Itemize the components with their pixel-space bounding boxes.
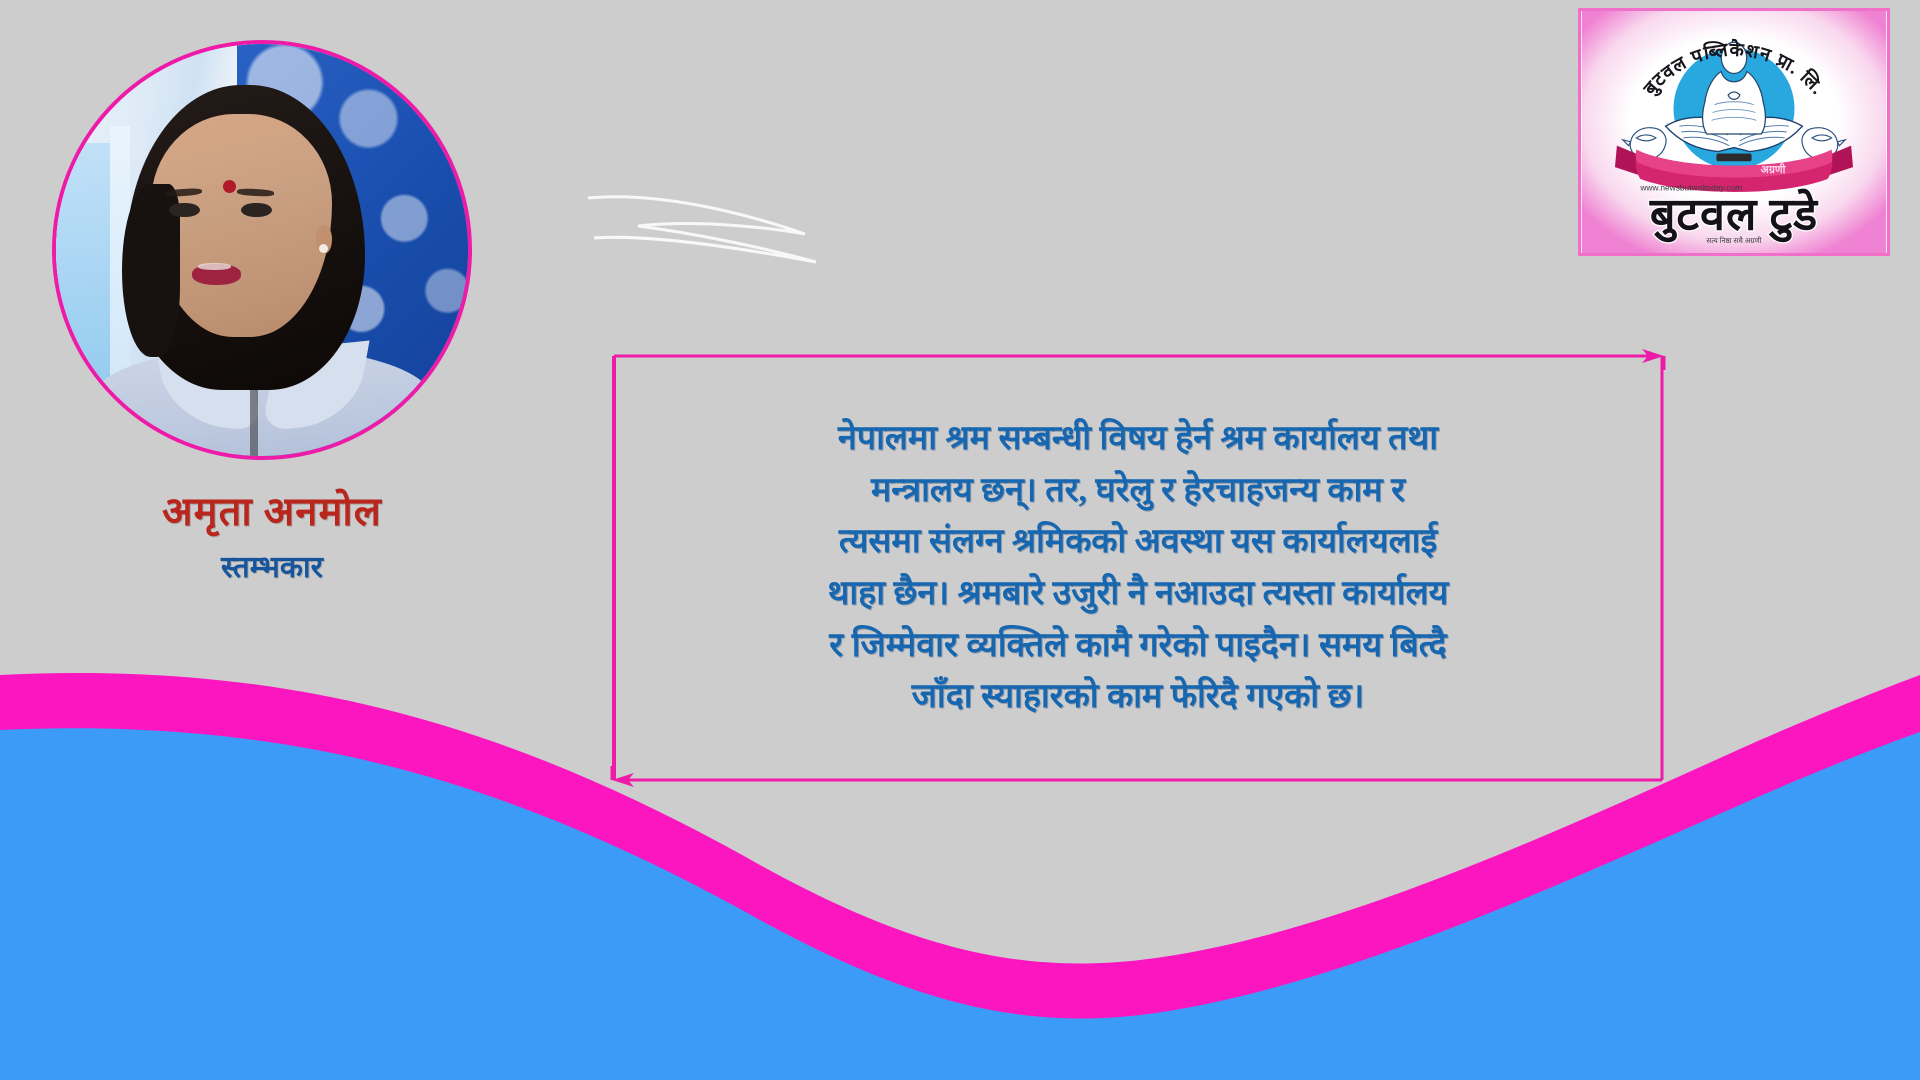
quote-line: थाहा छैन। श्रमबारे उजुरी नै नआउदा त्यस्त…	[828, 568, 1449, 620]
author-role: स्तम्भकार	[52, 545, 492, 586]
butwal-today-logo[interactable]: अग्रणी बुटवल पब्लिकेशन प्रा. लि. www.new…	[1578, 8, 1890, 256]
logo-ribbon-text: अग्रणी	[1761, 163, 1787, 176]
photo-earring	[319, 244, 328, 253]
quote-text: नेपालमा श्रम सम्बन्धी विषय हेर्न श्रम का…	[634, 374, 1642, 762]
quote-line: नेपालमा श्रम सम्बन्धी विषय हेर्न श्रम का…	[838, 413, 1438, 465]
poster-canvas: अमृता अनमोल स्तम्भकार नेपालमा श्रम सम्बन…	[0, 0, 1920, 1080]
quote-line: मन्त्रालय छन्। तर, घरेलु र हेरचाहजन्य का…	[871, 465, 1405, 517]
quote-line: र जिम्मेवार व्यक्तिले कामै गरेको पाइदैन।…	[829, 620, 1446, 672]
logo-tagline: सत्य निष्ठा सधै अग्रणी	[1706, 236, 1761, 245]
swoosh-decoration	[580, 190, 880, 280]
author-block: अमृता अनमोल स्तम्भकार	[52, 40, 492, 586]
quote-card: नेपालमा श्रम सम्बन्धी विषय हेर्न श्रम का…	[608, 348, 1668, 788]
author-portrait-photo	[52, 40, 472, 460]
logo-wordmark: बुटवल टुडे	[1649, 189, 1819, 243]
author-name: अमृता अनमोल	[52, 482, 492, 537]
quote-line: जाँदा स्याहारको काम फेरिदै गएको छ।	[912, 671, 1365, 723]
photo-lip-highlight	[198, 263, 231, 270]
photo-shirt-placket	[250, 390, 258, 460]
photo-bindi	[223, 180, 236, 193]
quote-line: त्यसमा संलग्न श्रमिकको अवस्था यस कार्याल…	[839, 516, 1437, 568]
